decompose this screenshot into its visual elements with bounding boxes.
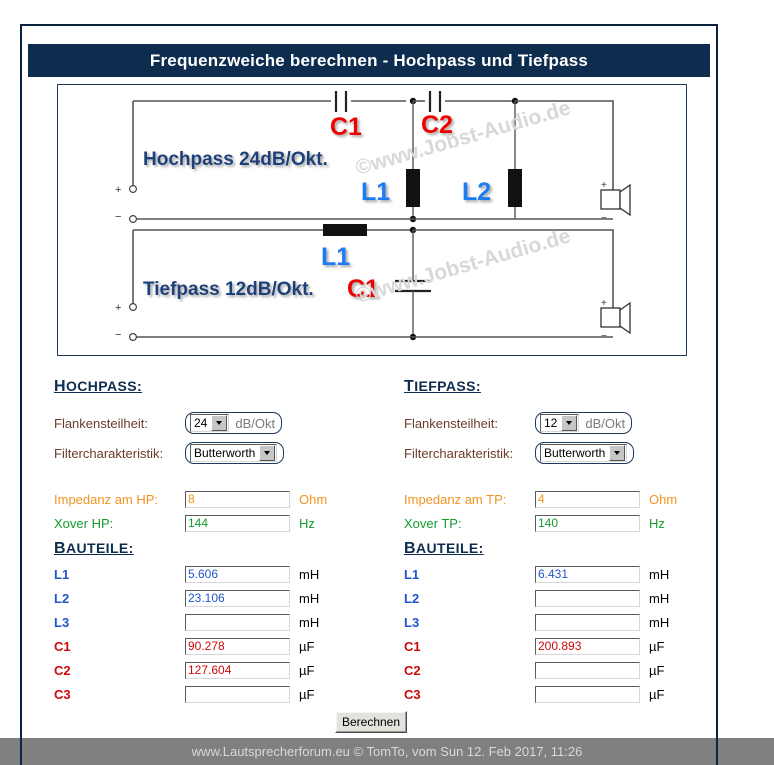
lowpass-xover-label: Xover TP: xyxy=(404,516,535,531)
lowpass-part-unit-c3: µF xyxy=(649,687,664,702)
lowpass-impedance-label: Impedanz am TP: xyxy=(404,492,535,507)
highpass-xover-input[interactable] xyxy=(185,515,290,532)
highpass-characteristic-select-wrap[interactable]: Butterworth xyxy=(185,442,284,464)
schematic-lowpass-label: Tiefpass 12dB/Okt. xyxy=(143,279,314,300)
highpass-slope-select[interactable]: 24 xyxy=(190,414,229,432)
highpass-xover-unit: Hz xyxy=(299,516,315,531)
highpass-part-input-c3[interactable] xyxy=(185,686,290,703)
highpass-part-label-l2: L2 xyxy=(54,591,185,606)
highpass-slope-label: Flankensteilheit: xyxy=(54,416,185,431)
lowpass-part-input-c1[interactable] xyxy=(535,638,640,655)
highpass-part-unit-l3: mH xyxy=(299,615,319,630)
highpass-characteristic-value: Butterworth xyxy=(194,446,259,460)
app-window: Frequenzweiche berechnen - Hochpass und … xyxy=(0,0,774,765)
highpass-part-row: C3µF xyxy=(54,682,394,706)
lowpass-part-label-l3: L3 xyxy=(404,615,535,630)
schematic-c1-hp-label: C1 xyxy=(330,113,362,141)
highpass-part-row: L2mH xyxy=(54,586,394,610)
highpass-parts-heading: BAUTEILE: xyxy=(54,540,394,562)
highpass-xover-row: Xover HP: Hz xyxy=(54,511,394,535)
watermark: ©www.Jobst-Audio.de xyxy=(353,224,573,307)
highpass-part-row: C2µF xyxy=(54,658,394,682)
highpass-slope-value: 24 xyxy=(194,416,211,430)
highpass-slope-unit: dB/Okt xyxy=(235,416,275,431)
highpass-impedance-row: Impedanz am HP: Ohm xyxy=(54,487,394,511)
lowpass-impedance-input[interactable] xyxy=(535,491,640,508)
lowpass-characteristic-value: Butterworth xyxy=(544,446,609,460)
highpass-slope-select-wrap[interactable]: 24 dB/Okt xyxy=(185,412,282,434)
highpass-part-input-l3[interactable] xyxy=(185,614,290,631)
highpass-heading-rest: OCHPASS: xyxy=(66,378,142,394)
lowpass-part-row: L1mH xyxy=(404,562,734,586)
lowpass-part-row: C1µF xyxy=(404,634,734,658)
lowpass-part-label-c3: C3 xyxy=(404,687,535,702)
lowpass-part-row: L3mH xyxy=(404,610,734,634)
highpass-slope-row: Flankensteilheit: 24 dB/Okt xyxy=(54,408,394,438)
highpass-part-label-l1: L1 xyxy=(54,567,185,582)
lowpass-slope-label: Flankensteilheit: xyxy=(404,416,535,431)
lowpass-part-unit-c2: µF xyxy=(649,663,664,678)
lowpass-xover-row: Xover TP: Hz xyxy=(404,511,734,535)
highpass-heading: HOCHPASS: xyxy=(54,378,394,400)
lowpass-part-input-l1[interactable] xyxy=(535,566,640,583)
highpass-part-input-c2[interactable] xyxy=(185,662,290,679)
highpass-part-unit-c3: µF xyxy=(299,687,314,702)
lowpass-heading: TIEFPASS: xyxy=(404,378,734,400)
lowpass-part-row: C3µF xyxy=(404,682,734,706)
chevron-down-icon[interactable] xyxy=(259,445,275,461)
highpass-part-row: L3mH xyxy=(54,610,394,634)
highpass-part-unit-c1: µF xyxy=(299,639,314,654)
frame-leg-right xyxy=(716,738,718,765)
lowpass-slope-select[interactable]: 12 xyxy=(540,414,579,432)
frame-leg-left xyxy=(20,738,22,765)
highpass-part-unit-c2: µF xyxy=(299,663,314,678)
highpass-part-input-c1[interactable] xyxy=(185,638,290,655)
svg-text:−: − xyxy=(601,213,607,224)
lowpass-part-input-c3[interactable] xyxy=(535,686,640,703)
highpass-part-unit-l1: mH xyxy=(299,567,319,582)
lowpass-heading-rest: IEFPASS: xyxy=(414,378,481,394)
lowpass-part-unit-l3: mH xyxy=(649,615,669,630)
highpass-part-label-c3: C3 xyxy=(54,687,185,702)
lowpass-part-label-l2: L2 xyxy=(404,591,535,606)
lowpass-part-input-c2[interactable] xyxy=(535,662,640,679)
lowpass-characteristic-label: Filtercharakteristik: xyxy=(404,446,535,461)
lowpass-slope-value: 12 xyxy=(544,416,561,430)
highpass-parts-heading-first: B xyxy=(54,540,66,557)
schematic-l1-hp-label: L1 xyxy=(361,178,390,206)
lowpass-part-unit-c1: µF xyxy=(649,639,664,654)
highpass-part-unit-l2: mH xyxy=(299,591,319,606)
lowpass-slope-unit: dB/Okt xyxy=(585,416,625,431)
schematic-highpass-label: Hochpass 24dB/Okt. xyxy=(143,149,328,170)
svg-text:−: − xyxy=(115,329,121,341)
lowpass-characteristic-select-wrap[interactable]: Butterworth xyxy=(535,442,634,464)
footer-bar: www.Lautsprecherforum.eu © TomTo, vom Su… xyxy=(0,738,774,765)
schematic-l1-lp-label: L1 xyxy=(321,243,350,271)
highpass-impedance-label: Impedanz am HP: xyxy=(54,492,185,507)
chevron-down-icon[interactable] xyxy=(609,445,625,461)
lowpass-heading-first: T xyxy=(404,378,414,395)
highpass-impedance-unit: Ohm xyxy=(299,492,327,507)
chevron-down-icon[interactable] xyxy=(561,415,577,431)
lowpass-part-label-l1: L1 xyxy=(404,567,535,582)
lowpass-part-label-c1: C1 xyxy=(404,639,535,654)
lowpass-slope-select-wrap[interactable]: 12 dB/Okt xyxy=(535,412,632,434)
lowpass-part-label-c2: C2 xyxy=(404,663,535,678)
lowpass-part-row: C2µF xyxy=(404,658,734,682)
lowpass-xover-unit: Hz xyxy=(649,516,665,531)
highpass-part-row: L1mH xyxy=(54,562,394,586)
highpass-impedance-input[interactable] xyxy=(185,491,290,508)
highpass-part-label-c2: C2 xyxy=(54,663,185,678)
highpass-part-label-l3: L3 xyxy=(54,615,185,630)
lowpass-parts-heading-first: B xyxy=(404,540,416,557)
schematic-l2-hp-label: L2 xyxy=(462,178,491,206)
highpass-part-input-l1[interactable] xyxy=(185,566,290,583)
lowpass-xover-input[interactable] xyxy=(535,515,640,532)
highpass-characteristic-select[interactable]: Butterworth xyxy=(190,444,277,462)
lowpass-part-row: L2mH xyxy=(404,586,734,610)
footer-text: www.Lautsprecherforum.eu © TomTo, vom Su… xyxy=(192,744,583,759)
highpass-parts-heading-rest: AUTEILE: xyxy=(66,540,134,556)
lowpass-parts-heading-rest: AUTEILE: xyxy=(416,540,484,556)
chevron-down-icon[interactable] xyxy=(211,415,227,431)
highpass-characteristic-label: Filtercharakteristik: xyxy=(54,446,185,461)
lowpass-parts-list: L1mHL2mHL3mHC1µFC2µFC3µF xyxy=(404,562,734,706)
lowpass-part-input-l2[interactable] xyxy=(535,590,640,607)
highpass-characteristic-row: Filtercharakteristik: Butterworth xyxy=(54,438,394,468)
lowpass-characteristic-select[interactable]: Butterworth xyxy=(540,444,627,462)
highpass-part-input-l2[interactable] xyxy=(185,590,290,607)
watermark: ©www.Jobst-Audio.de xyxy=(353,96,573,179)
lowpass-column: TIEFPASS: Flankensteilheit: 12 dB/Okt Fi… xyxy=(404,378,734,706)
svg-text:−: − xyxy=(601,331,607,342)
highpass-xover-label: Xover HP: xyxy=(54,516,185,531)
highpass-heading-first: H xyxy=(54,378,66,395)
lowpass-slope-row: Flankensteilheit: 12 dB/Okt xyxy=(404,408,734,438)
highpass-part-label-c1: C1 xyxy=(54,639,185,654)
lowpass-impedance-unit: Ohm xyxy=(649,492,677,507)
circuit-schematic: + − + − Hochpass 24dB/Okt. C1 C2 L1 L2 ©… xyxy=(57,84,687,356)
page-title: Frequenzweiche berechnen - Hochpass und … xyxy=(28,44,710,77)
lowpass-part-unit-l2: mH xyxy=(649,591,669,606)
svg-text:+: + xyxy=(115,302,121,314)
lowpass-part-unit-l1: mH xyxy=(649,567,669,582)
lowpass-impedance-row: Impedanz am TP: Ohm xyxy=(404,487,734,511)
svg-text:+: + xyxy=(115,184,121,196)
highpass-parts-list: L1mHL2mHL3mHC1µFC2µFC3µF xyxy=(54,562,394,706)
lowpass-part-input-l3[interactable] xyxy=(535,614,640,631)
lowpass-characteristic-row: Filtercharakteristik: Butterworth xyxy=(404,438,734,468)
lowpass-parts-heading: BAUTEILE: xyxy=(404,540,734,562)
highpass-part-row: C1µF xyxy=(54,634,394,658)
svg-text:−: − xyxy=(115,211,121,223)
highpass-column: HOCHPASS: Flankensteilheit: 24 dB/Okt Fi… xyxy=(54,378,394,706)
